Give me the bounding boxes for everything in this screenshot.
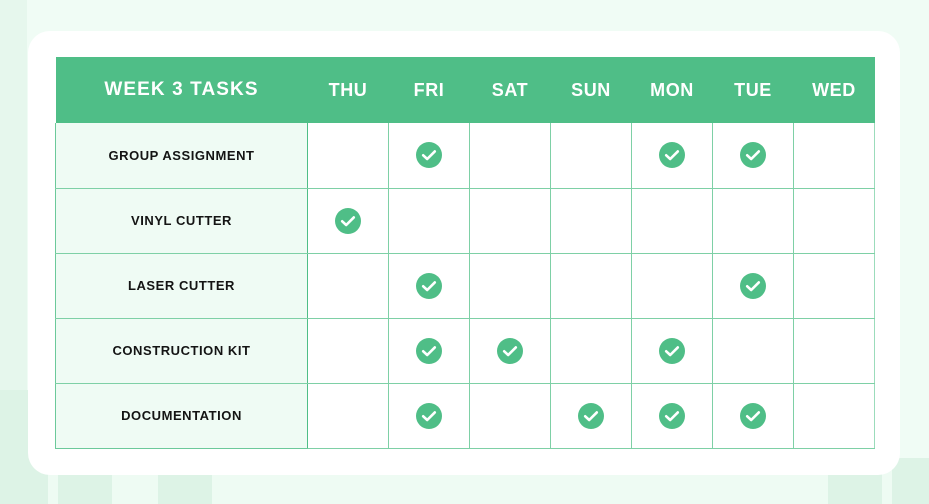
check-circle-icon [740, 273, 766, 299]
schedule-cell-tue[interactable] [713, 123, 794, 188]
header-row: WEEK 3 TASKS THU FRI SAT SUN MON TUE WED [56, 57, 875, 123]
schedule-cell-fri[interactable] [389, 188, 470, 253]
schedule-cell-wed[interactable] [794, 253, 875, 318]
day-header-sun: SUN [551, 57, 632, 123]
schedule-cell-fri[interactable] [389, 383, 470, 448]
schedule-cell-wed[interactable] [794, 383, 875, 448]
table-body: GROUP ASSIGNMENT VINYL CUTTER LASER CUTT… [56, 123, 875, 448]
schedule-cell-fri[interactable] [389, 318, 470, 383]
task-name-cell: GROUP ASSIGNMENT [56, 123, 308, 188]
check-circle-icon [659, 403, 685, 429]
day-header-sat: SAT [470, 57, 551, 123]
schedule-cell-sat[interactable] [470, 383, 551, 448]
schedule-cell-thu[interactable] [308, 253, 389, 318]
schedule-cell-sun[interactable] [551, 318, 632, 383]
table-row: CONSTRUCTION KIT [56, 318, 875, 383]
schedule-cell-tue[interactable] [713, 383, 794, 448]
schedule-cell-tue[interactable] [713, 253, 794, 318]
table-row: GROUP ASSIGNMENT [56, 123, 875, 188]
schedule-cell-sun[interactable] [551, 188, 632, 253]
schedule-cell-sun[interactable] [551, 123, 632, 188]
schedule-cell-sun[interactable] [551, 253, 632, 318]
schedule-cell-sat[interactable] [470, 318, 551, 383]
day-header-thu: THU [308, 57, 389, 123]
deco-sprout-5 [892, 458, 929, 504]
task-column-header: WEEK 3 TASKS [56, 57, 308, 123]
schedule-cell-sat[interactable] [470, 188, 551, 253]
schedule-cell-sun[interactable] [551, 383, 632, 448]
schedule-cell-mon[interactable] [632, 123, 713, 188]
schedule-cell-mon[interactable] [632, 318, 713, 383]
schedule-cell-wed[interactable] [794, 188, 875, 253]
week-schedule-table: WEEK 3 TASKS THU FRI SAT SUN MON TUE WED… [55, 57, 875, 449]
check-circle-icon [416, 338, 442, 364]
task-name-cell: CONSTRUCTION KIT [56, 318, 308, 383]
table-row: LASER CUTTER [56, 253, 875, 318]
schedule-cell-sat[interactable] [470, 253, 551, 318]
schedule-cell-mon[interactable] [632, 253, 713, 318]
schedule-cell-wed[interactable] [794, 318, 875, 383]
check-circle-icon [416, 142, 442, 168]
check-circle-icon [740, 403, 766, 429]
check-circle-icon [416, 403, 442, 429]
schedule-cell-thu[interactable] [308, 383, 389, 448]
schedule-cell-thu[interactable] [308, 318, 389, 383]
table-header: WEEK 3 TASKS THU FRI SAT SUN MON TUE WED [56, 57, 875, 123]
day-header-wed: WED [794, 57, 875, 123]
schedule-cell-thu[interactable] [308, 188, 389, 253]
schedule-cell-fri[interactable] [389, 123, 470, 188]
task-name-cell: DOCUMENTATION [56, 383, 308, 448]
check-circle-icon [335, 208, 361, 234]
table-row: VINYL CUTTER [56, 188, 875, 253]
check-circle-icon [416, 273, 442, 299]
task-name-cell: LASER CUTTER [56, 253, 308, 318]
schedule-cell-tue[interactable] [713, 318, 794, 383]
day-header-fri: FRI [389, 57, 470, 123]
check-circle-icon [659, 142, 685, 168]
day-header-mon: MON [632, 57, 713, 123]
task-name-cell: VINYL CUTTER [56, 188, 308, 253]
check-circle-icon [578, 403, 604, 429]
schedule-cell-mon[interactable] [632, 383, 713, 448]
table-row: DOCUMENTATION [56, 383, 875, 448]
check-circle-icon [740, 142, 766, 168]
schedule-cell-sat[interactable] [470, 123, 551, 188]
schedule-cell-thu[interactable] [308, 123, 389, 188]
schedule-cell-tue[interactable] [713, 188, 794, 253]
check-circle-icon [497, 338, 523, 364]
day-header-tue: TUE [713, 57, 794, 123]
check-circle-icon [659, 338, 685, 364]
schedule-cell-mon[interactable] [632, 188, 713, 253]
schedule-cell-wed[interactable] [794, 123, 875, 188]
schedule-cell-fri[interactable] [389, 253, 470, 318]
